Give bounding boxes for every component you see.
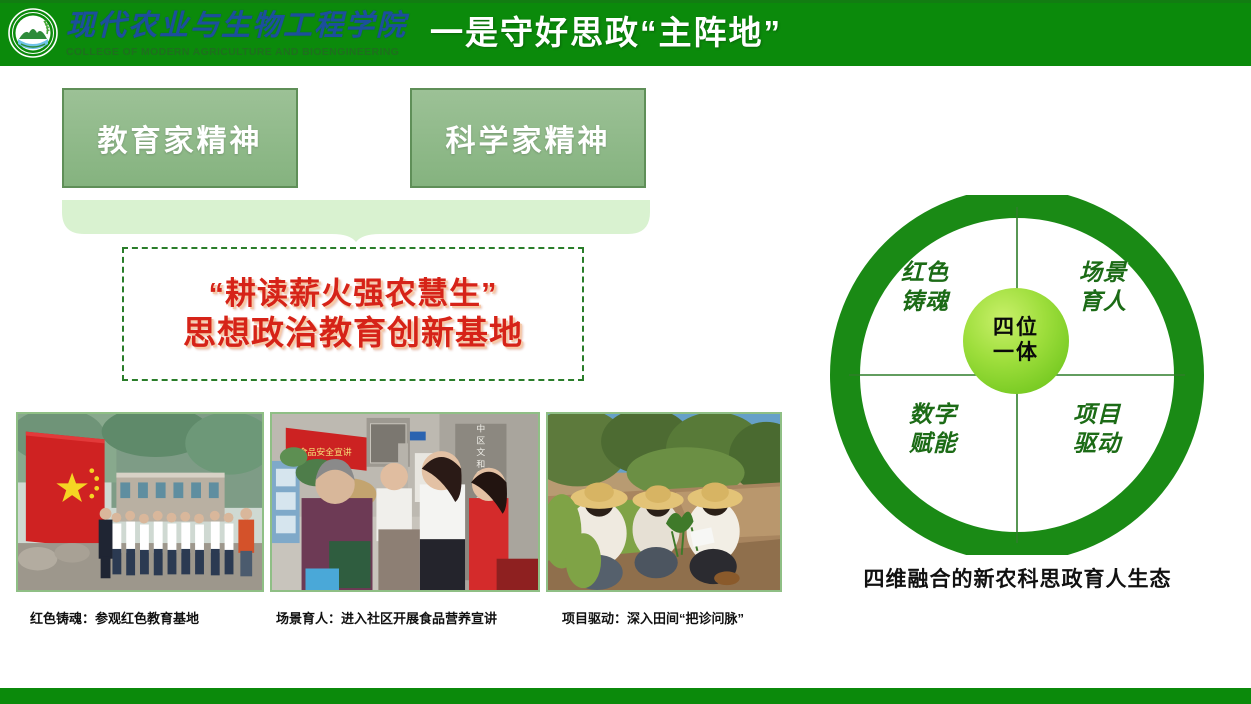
quadrant-label-scenario-education: 场景 育人: [1068, 258, 1138, 317]
quadrant-tr-line-1: 场景: [1068, 258, 1138, 287]
photo-caption-2: 场景育人：进入社区开展食品营养宣讲: [276, 608, 497, 627]
svg-text:文: 文: [476, 446, 485, 457]
college-name-english: COLLEGE OF MODERN AGRICULTURE AND BIOENG…: [66, 46, 399, 58]
photo-flag-salute[interactable]: [16, 412, 264, 592]
concept-box-1-label: 教育家精神: [98, 116, 263, 160]
college-name-chinese: 现代农业与生物工程学院: [66, 8, 411, 44]
base-title-line-2: 思想政治教育创新基地: [183, 313, 523, 353]
page-title: 一是守好思政“主阵地”: [430, 10, 900, 56]
quadrant-bl-line-2: 赋能: [898, 429, 968, 458]
slide-root: 现代农业与生物工程学院 COLLEGE OF MODERN AGRICULTUR…: [0, 0, 1251, 704]
svg-text:中: 中: [476, 423, 485, 434]
slide-header: 现代农业与生物工程学院 COLLEGE OF MODERN AGRICULTUR…: [0, 0, 1251, 66]
quadrant-tl-line-2: 铸魂: [890, 287, 960, 316]
quadrant-br-line-1: 项目: [1062, 400, 1132, 429]
quadrant-label-red-spirit: 红色 铸魂: [890, 258, 960, 317]
quadrant-tr-line-2: 育人: [1068, 287, 1138, 316]
photo-caption-3: 项目驱动：深入田间“把诊问脉”: [562, 608, 744, 627]
photo-field-work[interactable]: [546, 412, 782, 592]
college-emblem-icon: [8, 8, 58, 58]
photo-community-outreach[interactable]: 中 区 文 和 街 道 教 育 食品安全宣讲: [270, 412, 540, 592]
svg-text:区: 区: [476, 435, 485, 445]
innovation-base-box: “耕读薪火强农慧生” 思想政治教育创新基地: [122, 247, 584, 381]
center-line-1: 四位: [993, 316, 1039, 341]
center-line-2: 一体: [993, 341, 1039, 366]
diagram-center-circle: 四位 一体: [963, 288, 1069, 394]
funnel-bracket-shape: [62, 198, 650, 243]
quadrant-label-project-driven: 项目 驱动: [1062, 400, 1132, 459]
slide-footer-bar: [0, 688, 1251, 704]
quadrant-bl-line-1: 数字: [898, 400, 968, 429]
quadrant-br-line-2: 驱动: [1062, 429, 1132, 458]
concept-box-2-label: 科学家精神: [446, 116, 611, 160]
quadrant-label-digital-empowerment: 数字 赋能: [898, 400, 968, 459]
header-accent-line: [0, 0, 1251, 3]
concept-box-educator-spirit[interactable]: 教育家精神: [62, 88, 298, 188]
quadrant-tl-line-1: 红色: [890, 258, 960, 287]
photo-caption-1: 红色铸魂：参观红色教育基地: [30, 608, 199, 627]
base-title-line-1: “耕读薪火强农慧生”: [209, 275, 498, 313]
concept-box-scientist-spirit[interactable]: 科学家精神: [410, 88, 646, 188]
svg-text:和: 和: [476, 459, 485, 469]
diagram-caption: 四维融合的新农科思政育人生态: [805, 563, 1230, 593]
